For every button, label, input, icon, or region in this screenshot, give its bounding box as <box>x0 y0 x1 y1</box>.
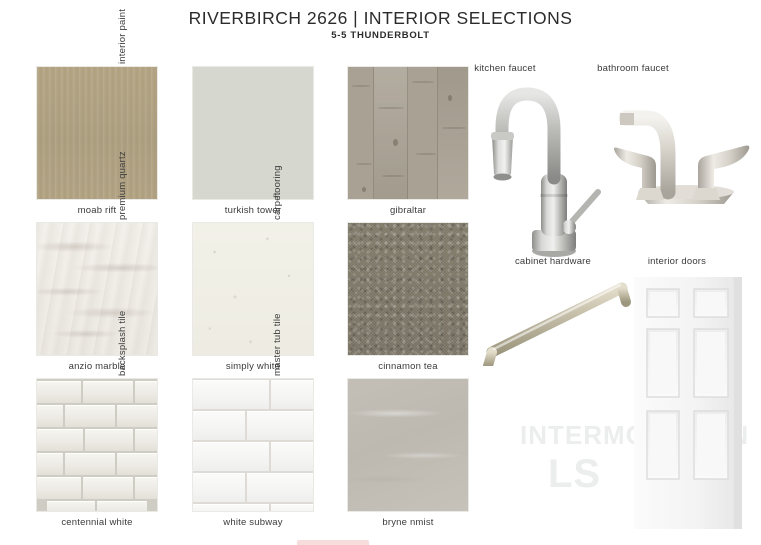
swatch-name-label: anzio marble <box>36 361 158 372</box>
bathroom-faucet-icon <box>612 80 760 210</box>
swatch-image-anzio-marble <box>36 222 158 356</box>
cabinet-hardware-image[interactable] <box>470 276 638 366</box>
swatch-name-label: white subway <box>192 517 314 528</box>
swatch-name-label: simply white <box>192 361 314 372</box>
swatch-name-label: centennial white <box>36 517 158 528</box>
swatch-category-label: interior paint <box>117 0 128 64</box>
swatch-category-label: master tub tile <box>272 242 283 376</box>
kitchen-faucet-image[interactable] <box>482 78 612 263</box>
page-subtitle: 5-5 THUNDERBOLT <box>0 30 761 41</box>
swatch-name-label: cinnamon tea <box>347 361 469 372</box>
product-label-bathroom-faucet: bathroom faucet <box>553 63 713 74</box>
swatch-category-label: carpet <box>272 86 283 220</box>
swatch-name-label: bryne nmist <box>347 517 469 528</box>
swatch-image-centennial-white <box>36 378 158 512</box>
cabinet-pull-icon <box>470 276 638 366</box>
swatch-name-label: gibraltar <box>347 205 469 216</box>
bathroom-faucet-image[interactable] <box>612 80 760 210</box>
product-label-interior-doors: interior doors <box>597 256 757 267</box>
swatch-name-label: turkish tower <box>192 205 314 216</box>
swatch-cell-flooring[interactable]: flooring gibraltar <box>323 66 445 200</box>
cropped-bottom-element <box>297 540 369 545</box>
interior-door-image[interactable] <box>634 277 742 529</box>
swatch-category-label: premium quartz <box>117 86 128 220</box>
swatch-image-simply-white <box>192 222 314 356</box>
swatch-image-gibraltar <box>347 66 469 200</box>
swatch-name-label: moab rift <box>36 205 158 216</box>
swatch-image-turkish-tower <box>192 66 314 200</box>
swatch-category-label: backsplash tile <box>117 242 128 376</box>
six-panel-door-icon <box>634 277 742 529</box>
kitchen-faucet-icon <box>482 78 612 263</box>
swatch-image-bryne-nmist <box>347 378 469 512</box>
interior-selections-board: RIVERBIRCH 2626 | INTERIOR SELECTIONS 5-… <box>0 0 761 545</box>
swatch-image-cinnamon-tea <box>347 222 469 356</box>
swatch-image-white-subway <box>192 378 314 512</box>
page-title: RIVERBIRCH 2626 | INTERIOR SELECTIONS <box>0 8 761 29</box>
watermark-secondary: LS <box>548 452 601 497</box>
swatch-image-moab-rift <box>36 66 158 200</box>
